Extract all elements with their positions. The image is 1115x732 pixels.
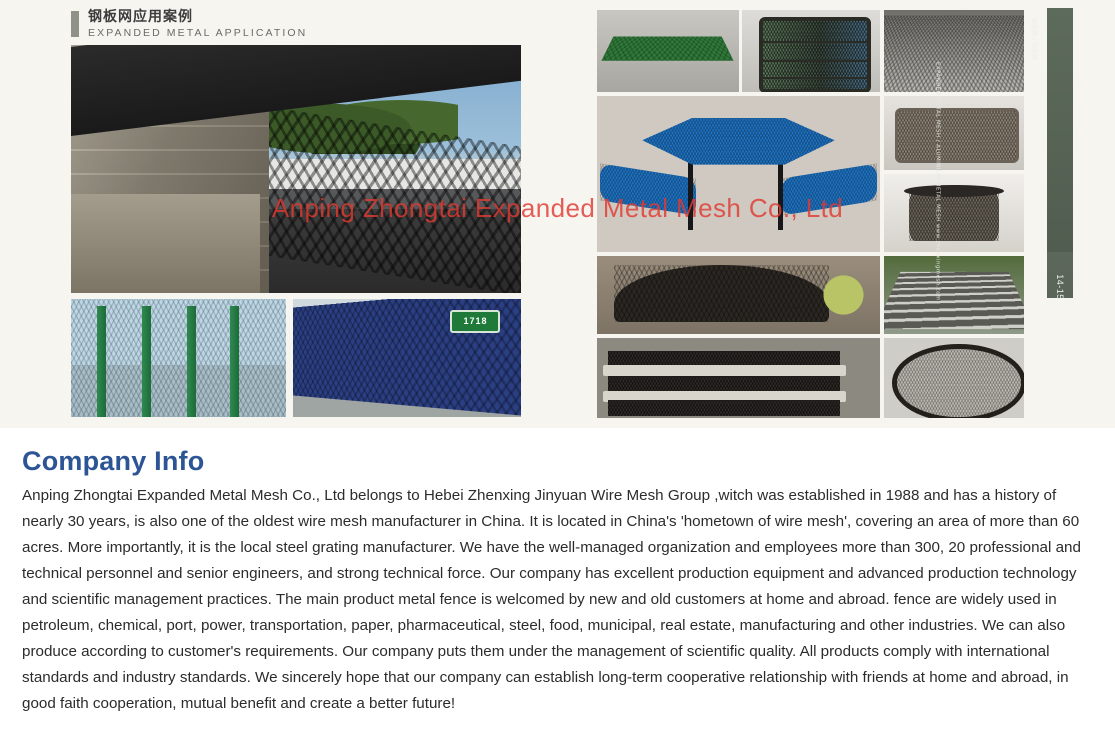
photo-round-expanded-metal-screen xyxy=(884,338,1024,418)
photo-expanded-metal-bridge-guard-rail xyxy=(71,45,521,293)
company-info-body: Anping Zhongtai Expanded Metal Mesh Co.,… xyxy=(22,483,1094,717)
company-info-section: Company Info Anping Zhongtai Expanded Me… xyxy=(0,428,1115,732)
cart-mesh-tray xyxy=(602,37,734,61)
fence-post xyxy=(142,306,151,417)
spine-title-cn: 钢板网 / 铝板网 xyxy=(1030,18,1039,60)
bench-body xyxy=(895,108,1019,163)
mesh-texture xyxy=(909,191,999,241)
spine-title-en: EXPANDED METAL MESH / ALUMINIUM METAL ME… xyxy=(935,62,941,301)
step-riser xyxy=(608,400,840,416)
shelf-board xyxy=(763,60,868,62)
mesh-texture xyxy=(608,400,840,416)
mesh-texture xyxy=(608,376,840,392)
fence-post xyxy=(230,306,239,417)
section-header-cn: 钢板网应用案例 xyxy=(88,10,307,24)
table-leg xyxy=(778,162,783,231)
header-accent-bar xyxy=(71,11,79,37)
photo-steel-grating-stairs xyxy=(884,256,1024,334)
step-riser xyxy=(608,376,840,392)
shelf-body xyxy=(759,17,872,92)
catalog-page: 钢板网应用案例 EXPANDED METAL APPLICATION 1718 xyxy=(0,0,1115,428)
photo-expanded-metal-ceiling-panel xyxy=(884,10,1024,92)
section-header-en: EXPANDED METAL APPLICATION xyxy=(88,28,307,39)
mesh-texture xyxy=(614,265,829,321)
photo-blue-expanded-metal-picnic-table xyxy=(597,96,880,252)
kilometre-marker-sign: 1718 xyxy=(450,310,500,333)
mesh-texture xyxy=(763,21,868,90)
fence-post xyxy=(187,306,196,417)
fence-post xyxy=(97,306,106,417)
photo-expanded-metal-stair-treads xyxy=(597,338,880,418)
mesh-texture xyxy=(898,111,1016,160)
photo-metal-mesh-park-bench xyxy=(884,96,1024,170)
photo-blue-expanded-metal-highway-fence: 1718 xyxy=(293,299,521,417)
spine-page-number: 14-15 xyxy=(1055,274,1065,300)
mesh-texture xyxy=(897,349,1020,416)
round-screen-disc xyxy=(892,344,1024,418)
photo-mesh-display-shelf-unit xyxy=(742,10,880,92)
window-well-shrub xyxy=(818,270,869,320)
photo-perforated-metal-trash-bin xyxy=(884,174,1024,252)
mesh-texture xyxy=(602,37,734,61)
shelf-board xyxy=(763,77,868,79)
photo-green-expanded-metal-fence xyxy=(71,299,286,417)
mesh-texture xyxy=(884,16,1024,92)
grating-treads xyxy=(884,272,1024,329)
table-leg xyxy=(688,162,693,231)
photo-expanded-metal-window-well-cover xyxy=(597,256,880,334)
shelf-board xyxy=(763,41,868,43)
photo-green-mesh-garden-cart xyxy=(597,10,739,92)
hero-kerb xyxy=(71,194,260,293)
catalog-spine: 钢板网 / 铝板网 EXPANDED METAL MESH / ALUMINIU… xyxy=(1047,8,1073,298)
company-info-heading: Company Info xyxy=(22,446,204,477)
section-header: 钢板网应用案例 EXPANDED METAL APPLICATION xyxy=(71,10,307,39)
step-tread xyxy=(603,365,846,376)
window-well-cover xyxy=(614,265,829,321)
bin-body xyxy=(909,191,999,241)
